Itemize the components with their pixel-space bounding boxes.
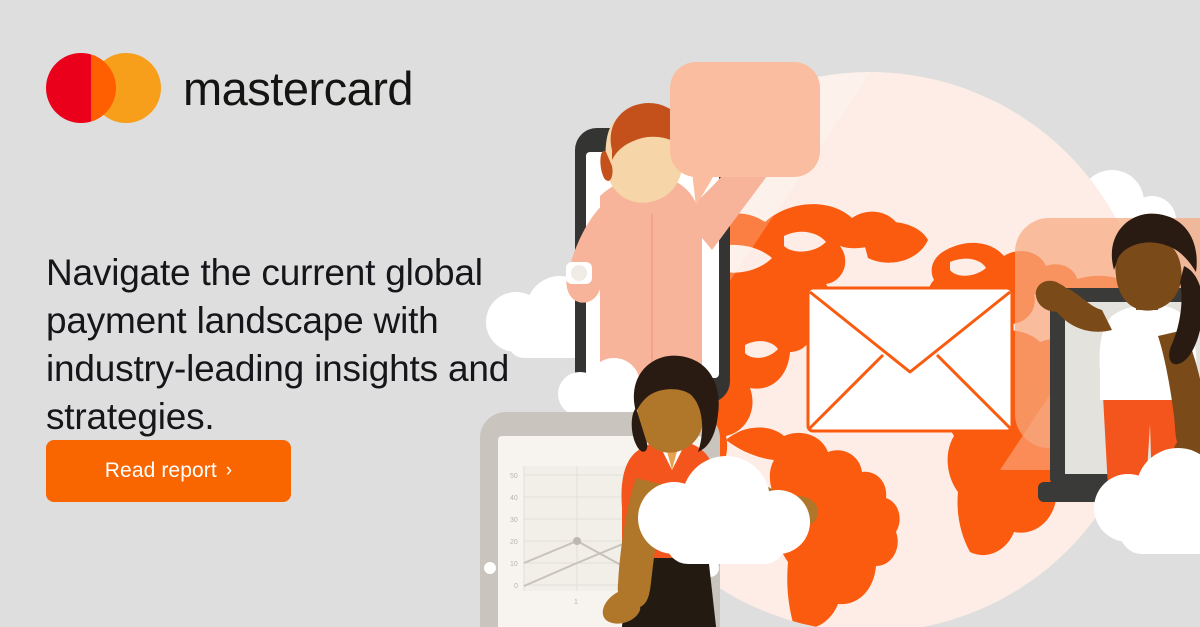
chevron-right-icon: ›	[226, 461, 232, 480]
read-report-button[interactable]: Read report ›	[46, 440, 291, 502]
marketing-banner: 50 40 30 20 10 0 1 2 3	[0, 0, 1200, 627]
mastercard-circles-icon	[46, 53, 161, 123]
brand-wordmark: mastercard	[183, 65, 413, 112]
envelope	[808, 288, 1012, 431]
mastercard-logo: mastercard	[46, 52, 546, 124]
svg-text:20: 20	[510, 539, 518, 546]
global-payments-illustration: 50 40 30 20 10 0 1 2 3	[440, 0, 1200, 627]
svg-text:1: 1	[574, 599, 578, 606]
page-title: Navigate the current global payment land…	[46, 249, 536, 441]
svg-text:0: 0	[514, 583, 518, 590]
banner-content: mastercard Navigate the current global p…	[46, 52, 546, 522]
logo-overlap-shape	[91, 53, 116, 123]
read-report-label: Read report	[105, 459, 217, 483]
svg-text:10: 10	[510, 561, 518, 568]
